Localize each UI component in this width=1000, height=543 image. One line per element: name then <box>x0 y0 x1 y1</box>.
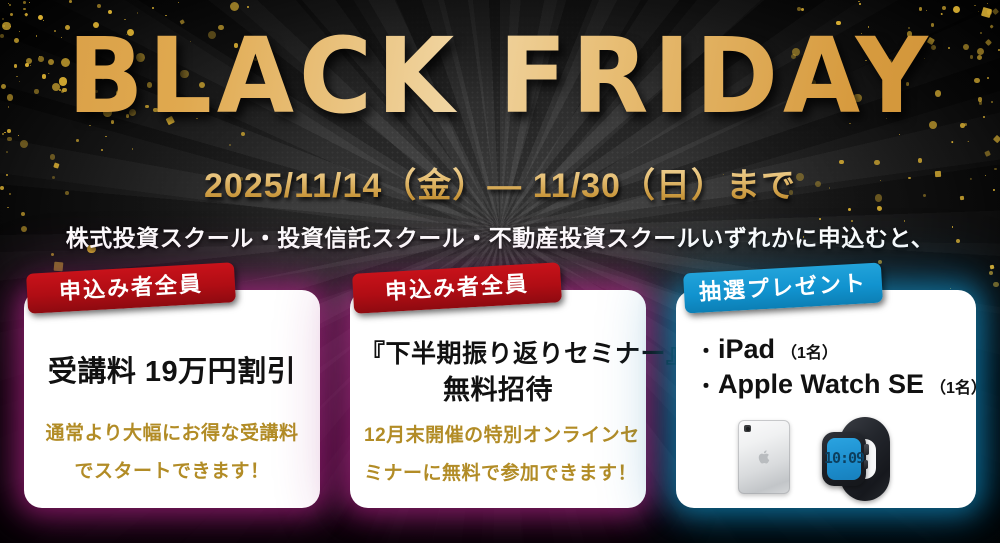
offer-title-line-2: 無料招待 <box>360 368 636 407</box>
ipad-image <box>738 420 790 494</box>
offer-description-line-1: 通常より大幅にお得な受講料 <box>38 418 306 445</box>
bullet-icon: ・ <box>696 370 716 399</box>
side-button-icon <box>864 460 868 469</box>
offer-card-giveaway: 抽選プレゼント ・ iPad （1名） ・ Apple Watch SE （1名… <box>676 290 976 508</box>
offer-card-discount: 申込み者全員 受講料 19万円割引 通常より大幅にお得な受講料 でスタートできま… <box>24 290 320 508</box>
watch-case: 10:09 <box>822 432 866 486</box>
page-title: BLACK FRIDAY <box>20 24 980 128</box>
apple-watch-image: 10:09 <box>816 416 900 502</box>
offer-title: 受講料 19万円割引 <box>34 348 310 390</box>
gift-name: Apple Watch SE <box>718 369 924 400</box>
gift-winner-count: （1名） <box>781 339 838 363</box>
offer-title-line-1: 『下半期振り返りセミナー』 <box>360 334 636 370</box>
gift-name: iPad <box>718 334 775 365</box>
watch-time: 10:09 <box>824 452 864 466</box>
black-friday-banner: BLACK FRIDAY 2025/11/14（金）— 11/30（日）まで 株… <box>0 0 1000 543</box>
list-item: ・ Apple Watch SE （1名） <box>696 369 966 400</box>
camera-icon <box>744 425 751 432</box>
bullet-icon: ・ <box>696 335 716 364</box>
offer-card-seminar: 申込み者全員 『下半期振り返りセミナー』 無料招待 12月末開催の特別オンライン… <box>350 290 646 508</box>
offer-description-line-2: でスタートできます！ <box>38 456 306 483</box>
gift-winner-count: （1名） <box>930 374 987 398</box>
digital-crown-icon <box>864 444 869 455</box>
gift-list: ・ iPad （1名） ・ Apple Watch SE （1名） <box>696 334 966 404</box>
product-images: 10:09 <box>676 416 976 504</box>
campaign-date-range: 2025/11/14（金）— 11/30（日）まで <box>0 158 1000 207</box>
list-item: ・ iPad （1名） <box>696 334 966 365</box>
offer-description-line-1: 12月末開催の特別オンラインセ <box>364 420 632 447</box>
offer-description-line-2: ミナーに無料で参加できます！ <box>364 458 632 485</box>
campaign-subtitle: 株式投資スクール・投資信託スクール・不動産投資スクールいずれかに申込むと、 <box>0 219 1000 253</box>
offer-cards: 申込み者全員 受講料 19万円割引 通常より大幅にお得な受講料 でスタートできま… <box>0 290 1000 510</box>
watch-screen: 10:09 <box>827 438 861 480</box>
apple-logo-icon <box>758 450 771 465</box>
